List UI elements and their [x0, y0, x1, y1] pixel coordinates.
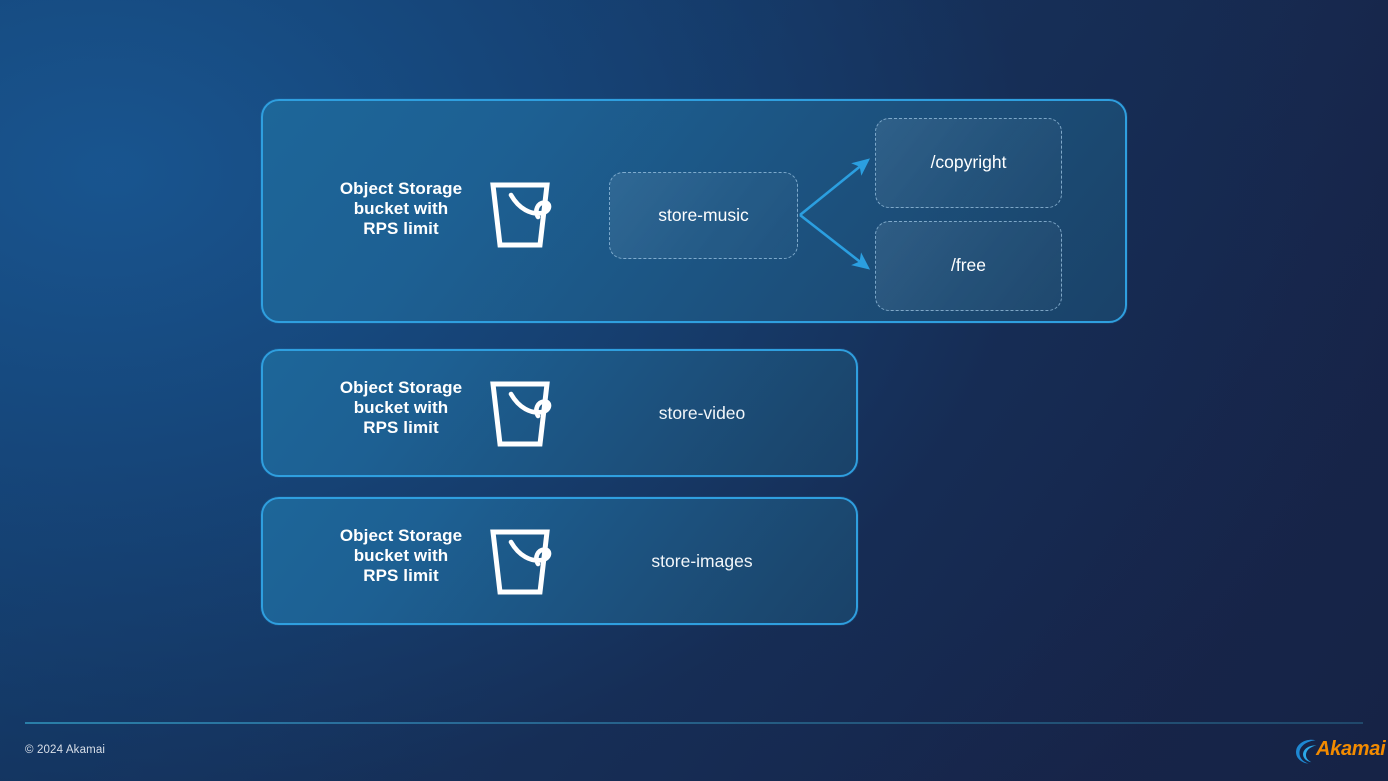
bucket-label-line-3: RPS limit: [325, 418, 477, 438]
bucket-name-store-video: store-video: [602, 405, 802, 423]
path-label-copyright: /copyright: [931, 154, 1007, 172]
object-storage-bucket-icon: [489, 378, 557, 450]
bucket-name-store-images: store-images: [602, 553, 802, 571]
akamai-wordmark: Akamai: [1316, 739, 1385, 759]
bucket-label-line-2: bucket with: [325, 199, 477, 219]
bucket-label-line-2: bucket with: [325, 546, 477, 566]
object-storage-bucket-icon: [489, 179, 557, 251]
footer-copyright: © 2024 Akamai: [25, 745, 105, 757]
bucket-label-line-1: Object Storage: [325, 179, 477, 199]
bucket-label-store-images: Object Storage bucket with RPS limit: [325, 526, 477, 587]
bucket-label-store-music: Object Storage bucket with RPS limit: [325, 179, 477, 240]
bucket-label-line-3: RPS limit: [325, 566, 477, 586]
bucket-label-line-1: Object Storage: [325, 526, 477, 546]
slide-stage: Object Storage bucket with RPS limit sto…: [0, 0, 1388, 781]
bucket-name-label: store-music: [658, 207, 748, 225]
bucket-label-line-2: bucket with: [325, 398, 477, 418]
akamai-logo: Akamai: [1294, 736, 1376, 766]
bucket-label-store-video: Object Storage bucket with RPS limit: [325, 378, 477, 439]
bucket-name-box-store-music[interactable]: store-music: [609, 172, 798, 259]
path-box-copyright[interactable]: /copyright: [875, 118, 1062, 208]
bucket-label-line-3: RPS limit: [325, 219, 477, 239]
path-label-free: /free: [951, 257, 986, 275]
object-storage-bucket-icon: [489, 526, 557, 598]
footer-divider: [25, 722, 1363, 724]
path-box-free[interactable]: /free: [875, 221, 1062, 311]
bucket-label-line-1: Object Storage: [325, 378, 477, 398]
